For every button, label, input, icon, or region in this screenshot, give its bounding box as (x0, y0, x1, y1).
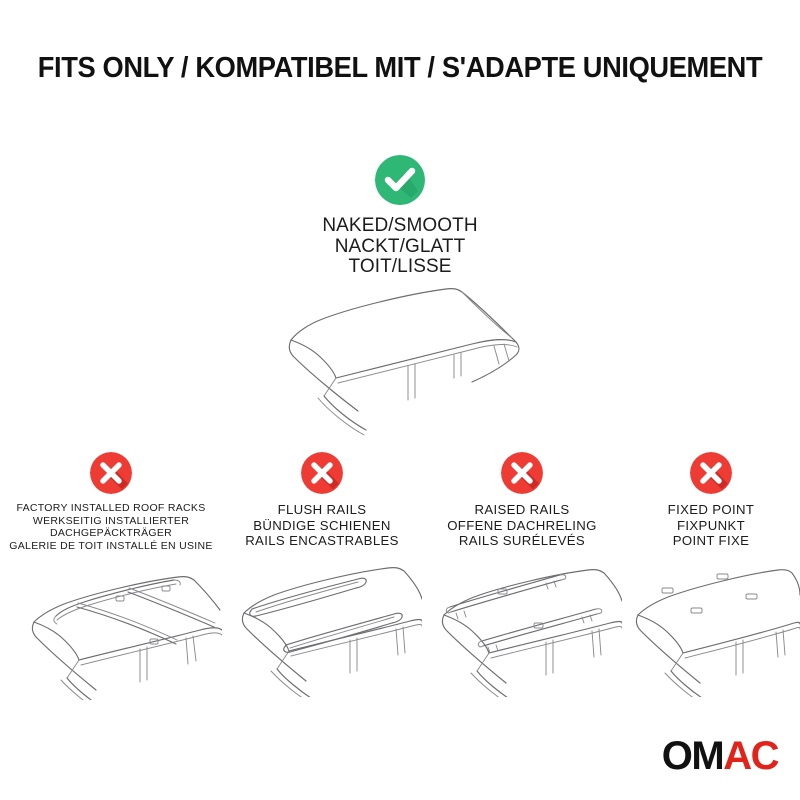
x-circle-icon (90, 452, 132, 494)
denied-roof-type-fixed-point: FIXED POINT FIXPUNKT POINT FIXE (622, 452, 800, 700)
denied-label-line-1: FACTORY INSTALLED ROOF RACKS (9, 502, 212, 515)
denied-label-line-3: RAILS SURÉLEVÉS (447, 533, 597, 549)
raised-rails-illustration (422, 557, 622, 697)
denied-labels-fixed-point: FIXED POINT FIXPUNKT POINT FIXE (668, 502, 755, 549)
denied-roof-types-grid: FACTORY INSTALLED ROOF RACKS WERKSEITIG … (0, 452, 800, 700)
denied-label-line-3: DACHGEPÄCKTRÄGER (9, 527, 212, 540)
fitment-compatibility-infographic: FITS ONLY / KOMPATIBEL MIT / S'ADAPTE UN… (0, 0, 800, 800)
approved-label-line-1: NAKED/SMOOTH (322, 216, 477, 237)
approved-label-line-3: TOIT/LISSE (322, 257, 477, 278)
approved-roof-type-labels: NAKED/SMOOTH NACKT/GLATT TOIT/LISSE (322, 216, 477, 278)
denied-roof-type-raised-rails: RAISED RAILS OFFENE DACHRELING RAILS SUR… (422, 452, 622, 700)
denied-roof-type-factory-roof-racks: FACTORY INSTALLED ROOF RACKS WERKSEITIG … (0, 452, 222, 700)
factory-roof-rack-illustration (0, 560, 222, 700)
x-circle-icon (301, 452, 343, 494)
page-title: FITS ONLY / KOMPATIBEL MIT / S'ADAPTE UN… (24, 52, 776, 85)
approved-roof-type-block: NAKED/SMOOTH NACKT/GLATT TOIT/LISSE (0, 155, 800, 278)
denied-label-line-3: RAILS ENCASTRABLES (245, 533, 399, 549)
denied-roof-type-flush-rails: FLUSH RAILS BÜNDIGE SCHIENEN RAILS ENCAS… (222, 452, 422, 700)
flush-rails-illustration (222, 557, 422, 697)
denied-label-line-1: FIXED POINT (668, 502, 755, 518)
x-circle-icon (501, 452, 543, 494)
omac-logo: OMAC (662, 736, 778, 776)
denied-labels-factory-roof-racks: FACTORY INSTALLED ROOF RACKS WERKSEITIG … (9, 502, 212, 552)
check-circle-icon (375, 155, 425, 205)
denied-label-line-2: BÜNDIGE SCHIENEN (245, 518, 399, 534)
x-circle-icon (690, 452, 732, 494)
denied-label-line-1: RAISED RAILS (447, 502, 597, 518)
naked-smooth-roof-illustration (258, 278, 558, 438)
denied-label-line-2: FIXPUNKT (668, 518, 755, 534)
denied-label-line-2: OFFENE DACHRELING (447, 518, 597, 534)
fixed-point-illustration (622, 557, 800, 697)
denied-labels-flush-rails: FLUSH RAILS BÜNDIGE SCHIENEN RAILS ENCAS… (245, 502, 399, 549)
denied-label-line-4: GALERIE DE TOIT INSTALLÉ EN USINE (9, 540, 212, 553)
denied-label-line-2: WERKSEITIG INSTALLIERTER (9, 515, 212, 528)
denied-label-line-1: FLUSH RAILS (245, 502, 399, 518)
denied-labels-raised-rails: RAISED RAILS OFFENE DACHRELING RAILS SUR… (447, 502, 597, 549)
denied-label-line-3: POINT FIXE (668, 533, 755, 549)
logo-text-ac: AC (723, 734, 778, 778)
approved-label-line-2: NACKT/GLATT (322, 237, 477, 258)
logo-text-om: OM (662, 734, 723, 778)
